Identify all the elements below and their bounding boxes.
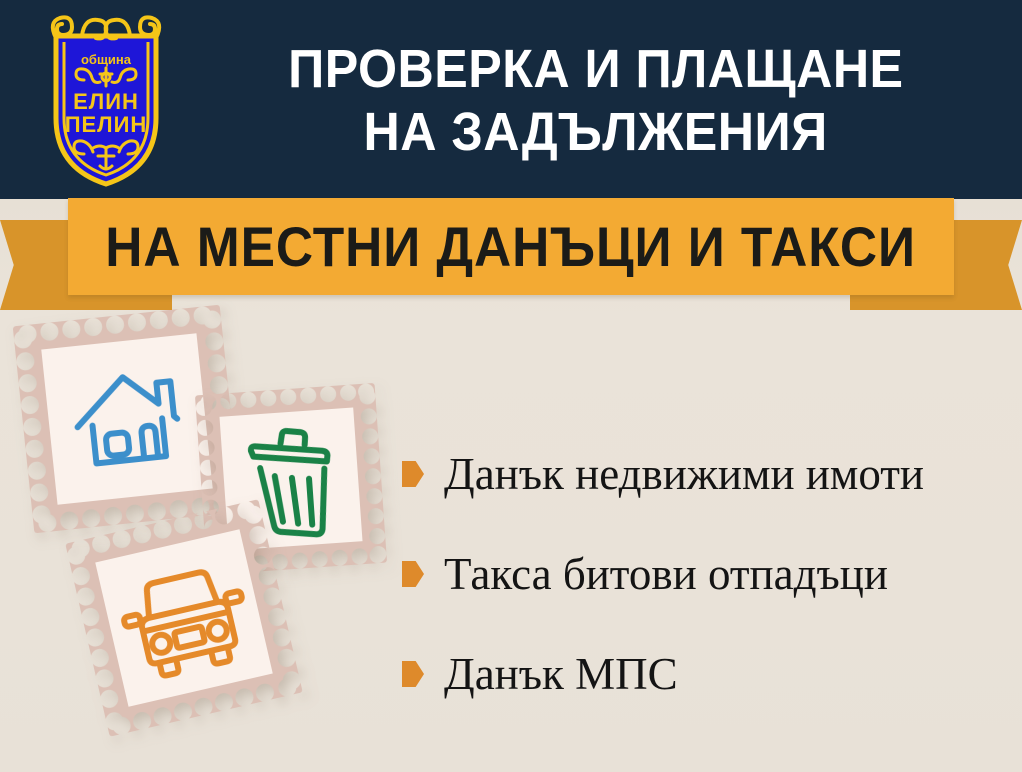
municipality-logo: община ЕЛИН ПЕЛИН: [26, 8, 186, 190]
arrow-bullet-icon: [402, 661, 424, 687]
page-title-line-2: НА ЗАДЪЛЖЕНИЯ: [364, 101, 828, 164]
svg-text:ЕЛИН: ЕЛИН: [73, 89, 139, 114]
arrow-bullet-icon: [402, 461, 424, 487]
svg-text:ПЕЛИН: ПЕЛИН: [65, 112, 148, 137]
logo-obshtina-text: община: [81, 52, 132, 67]
list-item-label: Данък недвижими имоти: [444, 452, 924, 497]
page-title: ПРОВЕРКА И ПЛАЩАНЕ НА ЗАДЪЛЖЕНИЯ: [186, 16, 1006, 186]
stamp-card-group: [0, 300, 420, 770]
list-item-label: Такса битови отпадъци: [444, 552, 888, 597]
ribbon-banner: НА МЕСТНИ ДАНЪЦИ И ТАКСИ: [0, 198, 1022, 310]
list-item-label: Данък МПС: [444, 652, 678, 697]
list-item[interactable]: Данък МПС: [402, 624, 1002, 724]
page-title-line-1: ПРОВЕРКА И ПЛАЩАНЕ: [288, 38, 903, 101]
poster-canvas: община ЕЛИН ПЕЛИН ПРОВЕРКА И ПЛАЩАНЕ Н: [0, 0, 1022, 772]
list-item[interactable]: Данък недвижими имоти: [402, 424, 1002, 524]
list-item[interactable]: Такса битови отпадъци: [402, 524, 1002, 624]
tax-type-list: Данък недвижими имоти Такса битови отпад…: [402, 424, 1002, 724]
ribbon-main-panel: НА МЕСТНИ ДАНЪЦИ И ТАКСИ: [68, 198, 954, 295]
arrow-bullet-icon: [402, 561, 424, 587]
ribbon-subtitle: НА МЕСТНИ ДАНЪЦИ И ТАКСИ: [106, 214, 917, 279]
